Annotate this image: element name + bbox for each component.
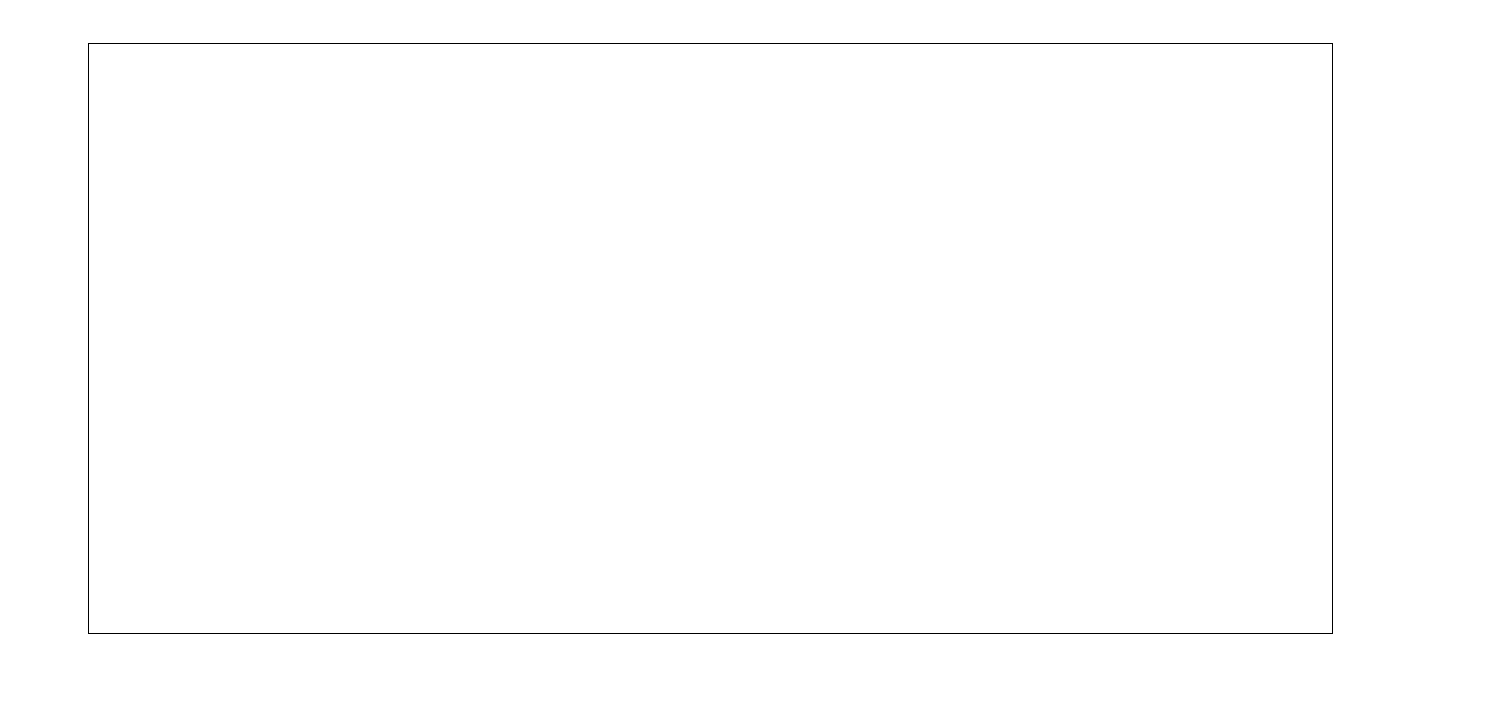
color-scale-bar[interactable] <box>1343 43 1383 634</box>
plot-frame <box>88 43 1333 634</box>
plot-root <box>0 0 1496 722</box>
heatmap-canvas <box>89 44 1332 633</box>
color-scale-gradient <box>1343 43 1383 634</box>
